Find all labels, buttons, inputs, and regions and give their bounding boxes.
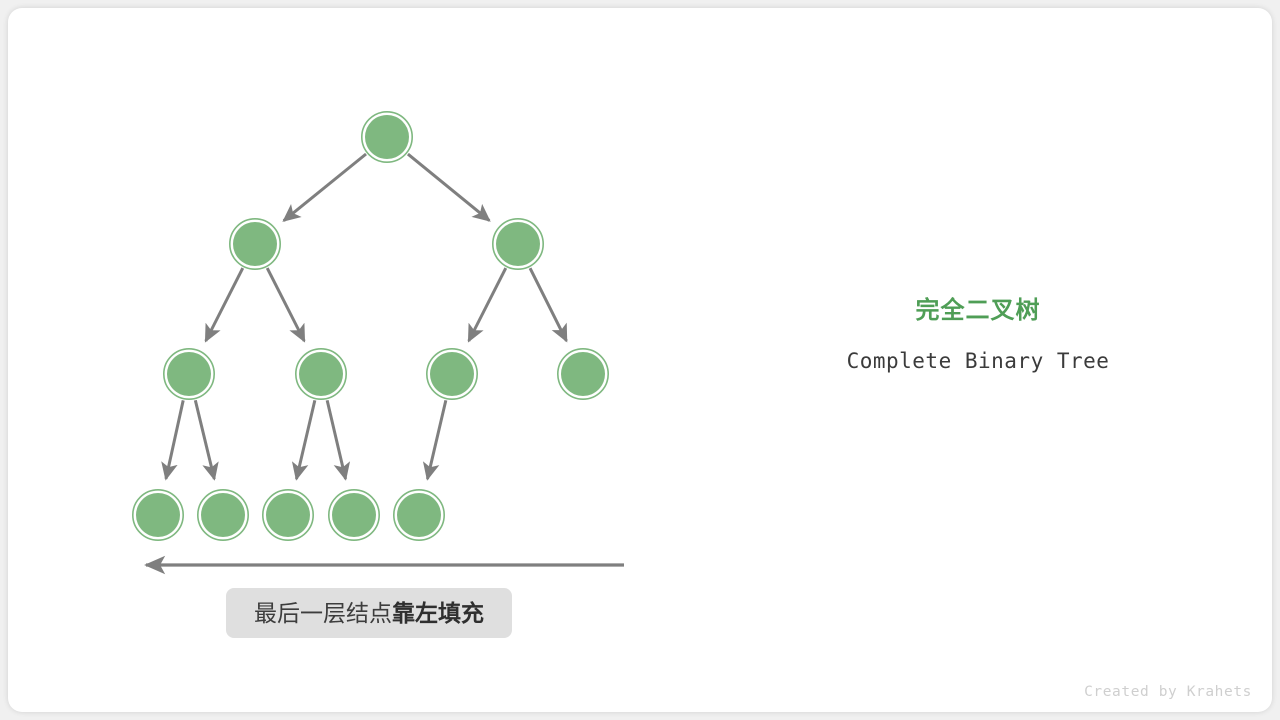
- screenshot-stage: 完全二叉树 Complete Binary Tree 最后一层结点靠左填充 Cr…: [0, 0, 1280, 720]
- tree-edge: [267, 268, 304, 341]
- tree-node-fill: [496, 222, 540, 266]
- tree-node-fill: [167, 352, 211, 396]
- tree-node: [296, 349, 346, 399]
- tree-node-fill: [233, 222, 277, 266]
- tree-node-fill: [365, 115, 409, 159]
- tree-edge: [296, 400, 314, 479]
- tree-node: [230, 219, 280, 269]
- tree-edge: [327, 400, 345, 479]
- tree-node: [394, 490, 444, 540]
- tree-node: [493, 219, 543, 269]
- tree-node-fill: [332, 493, 376, 537]
- diagram-card: 完全二叉树 Complete Binary Tree 最后一层结点靠左填充 Cr…: [8, 8, 1272, 712]
- legend-block: 完全二叉树 Complete Binary Tree: [828, 294, 1128, 377]
- caption-bold-text: 靠左填充: [392, 600, 484, 626]
- tree-node: [558, 349, 608, 399]
- tree-edge: [469, 268, 506, 341]
- tree-node: [427, 349, 477, 399]
- tree-node: [164, 349, 214, 399]
- tree-edge: [206, 268, 243, 341]
- tree-node-fill: [201, 493, 245, 537]
- tree-edge-layer: [166, 154, 567, 479]
- tree-node-fill: [561, 352, 605, 396]
- tree-edge: [530, 268, 566, 341]
- caption-plain-text: 最后一层结点: [254, 600, 392, 626]
- diagram-title-cn: 完全二叉树: [828, 294, 1128, 328]
- tree-node-fill: [397, 493, 441, 537]
- diagram-title-en: Complete Binary Tree: [828, 345, 1128, 377]
- tree-node: [133, 490, 183, 540]
- tree-edge: [408, 154, 489, 221]
- tree-node-fill: [136, 493, 180, 537]
- tree-node-fill: [299, 352, 343, 396]
- caption-badge: 最后一层结点靠左填充: [226, 588, 512, 638]
- tree-node: [198, 490, 248, 540]
- tree-edge: [195, 400, 214, 479]
- tree-node-fill: [266, 493, 310, 537]
- tree-node: [263, 490, 313, 540]
- tree-edge: [284, 154, 366, 221]
- tree-edge: [166, 400, 183, 478]
- tree-edge: [427, 400, 445, 479]
- tree-node: [329, 490, 379, 540]
- tree-node-layer: [133, 112, 608, 540]
- tree-node-fill: [430, 352, 474, 396]
- tree-node: [362, 112, 412, 162]
- credit-text: Created by Krahets: [1084, 684, 1252, 700]
